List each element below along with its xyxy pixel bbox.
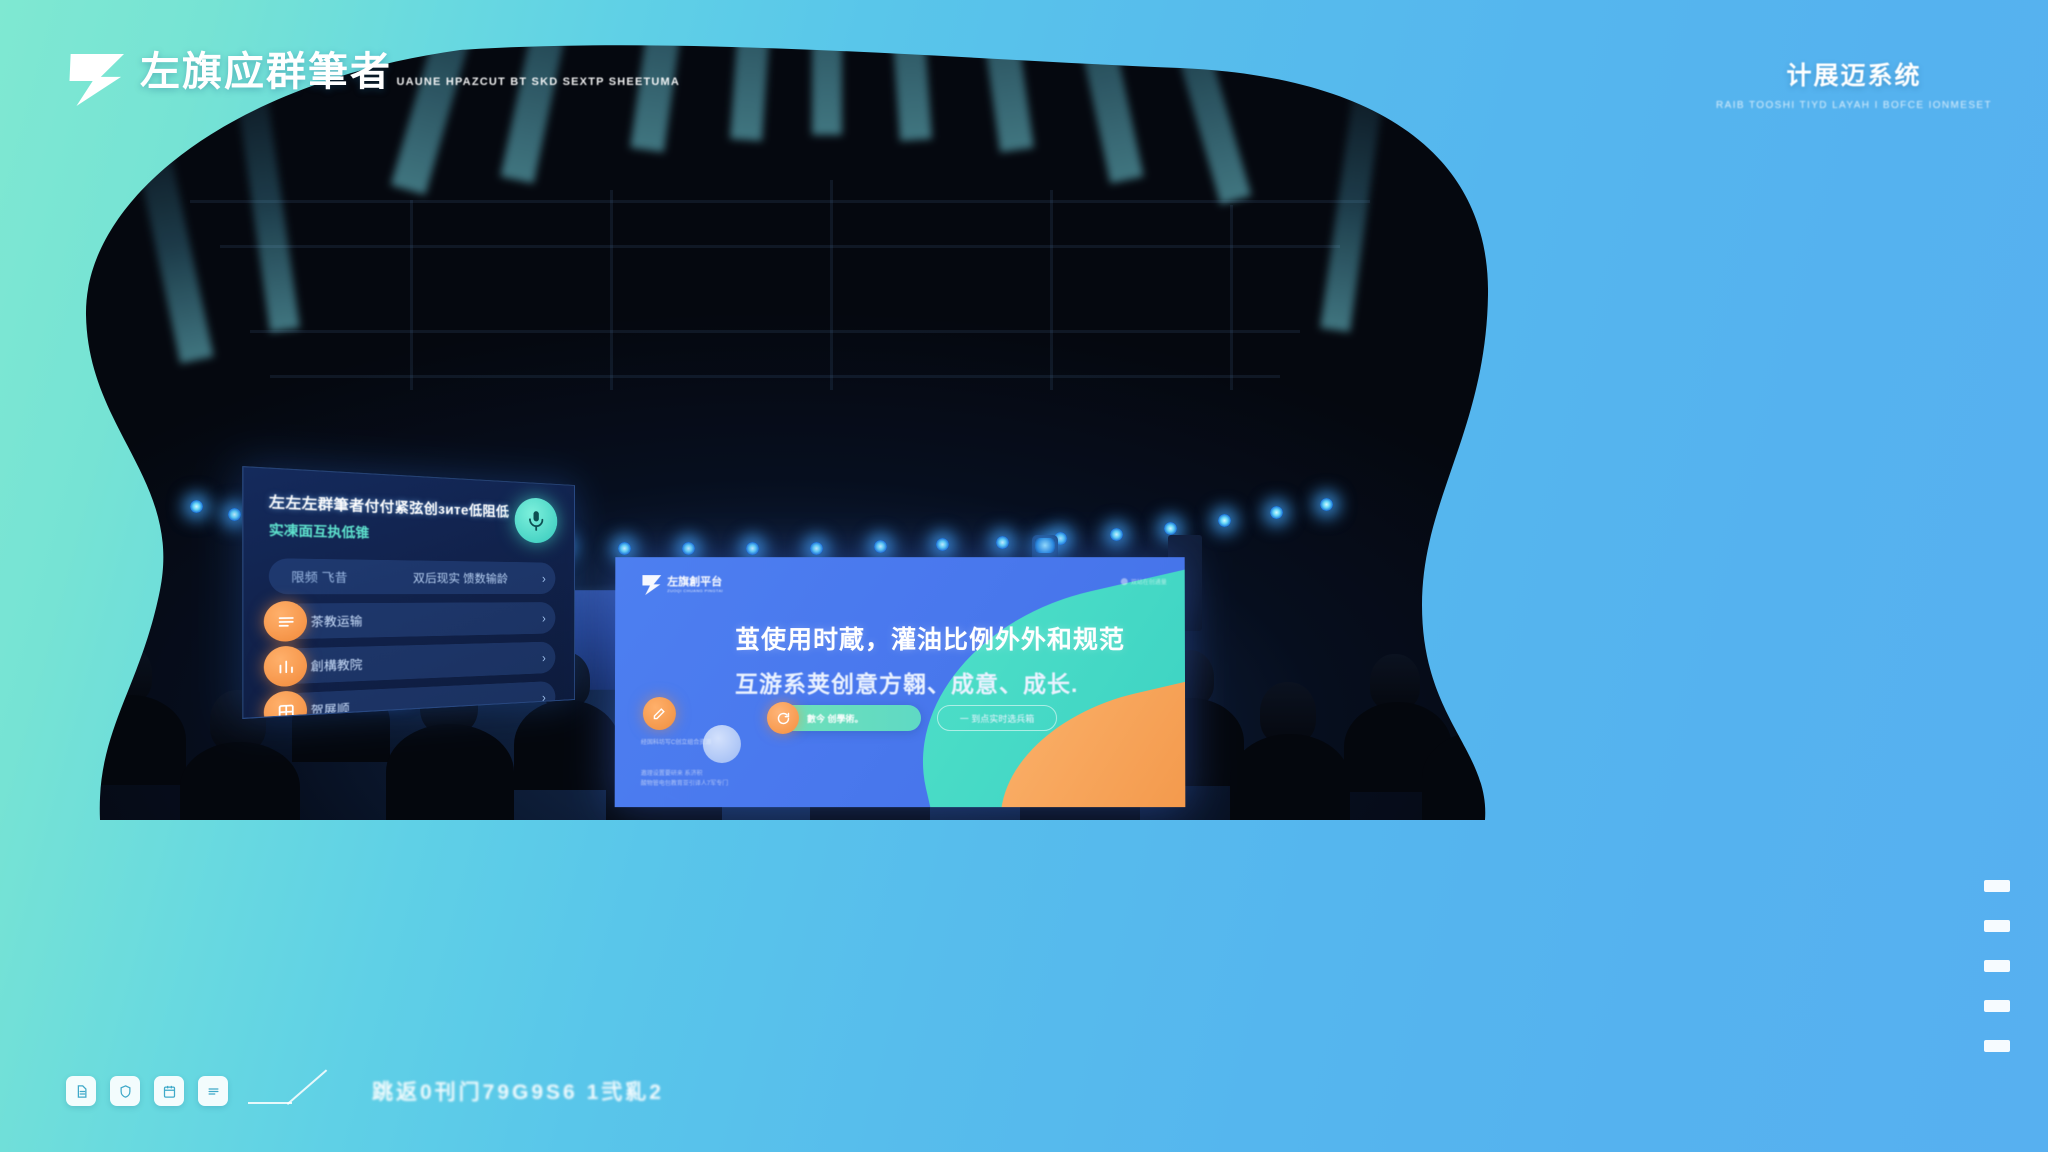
header-right-title: 计展迈系统 <box>1716 56 1992 92</box>
stage-light <box>682 542 695 555</box>
badge-dot-icon <box>1121 578 1128 585</box>
left-panel-header: 左左左群筆者付付紧弦创зите低阻低 实凍面互执低锥 <box>269 490 556 547</box>
edge-mark <box>1984 1000 2010 1012</box>
stage-light <box>810 542 823 555</box>
brand-tagline: UAUNE HPAZCUT BT SKD SEXTP SHEETUMA <box>396 76 680 88</box>
header-logo[interactable]: 左旗应群筆者 UAUNE HPAZCUT BT SKD SEXTP SHEETU… <box>66 50 680 106</box>
secondary-cta-button[interactable]: 一 到点实时选兵箱 <box>937 705 1057 731</box>
slide-actions: 數今 创學術。 一 到点实时选兵箱 <box>773 705 1057 731</box>
slide-headline-line2: 互游系荚创意方翱、成意、成长. <box>735 665 1165 699</box>
edit-icon <box>643 697 676 730</box>
stage-light <box>1110 528 1123 541</box>
stage-light <box>1320 498 1333 511</box>
slide-footnote-line1: 邀理设置要研来 系济积 <box>641 769 728 779</box>
truss-beam <box>220 245 1340 248</box>
brand-slash-mark-icon <box>66 54 124 106</box>
slide-logo-sub: ZUOQI CHUANG PINGTAI <box>667 589 723 593</box>
doc-icon[interactable] <box>66 1076 96 1106</box>
brand-slash-mark-icon <box>641 575 661 595</box>
list-item-secondary: 双后现实 馈数输龄 <box>413 569 508 587</box>
list-item-label: 創構教院 <box>311 655 363 675</box>
header-right: 计展迈系统 RAIB TOOSHI TIYD LAYAH I BOFCE ION… <box>1716 56 1992 111</box>
list-item-label: 茶教运输 <box>311 611 363 630</box>
stage-light <box>746 542 759 555</box>
slide-footnote-line2: 酸物管电包教育亚引译人7军专门 <box>641 779 728 789</box>
slide-corner-tag-label: 双站在创通量 <box>1131 577 1167 586</box>
truss-beam <box>190 200 1370 203</box>
footer-divider-rule <box>248 1074 334 1108</box>
left-panel-title: 左左左群筆者付付紧弦创зите低阻低 <box>269 490 556 523</box>
left-panel-rows: 限频 飞昔 双后现实 馈数输龄 › 茶教运输 › <box>269 558 556 719</box>
edge-mark <box>1984 960 2010 972</box>
stage-photo: 左左左群筆者付付紧弦创зите低阻低 实凍面互执低锥 限频 飞昔 双后现实 馈数… <box>70 30 1500 845</box>
stage-light <box>936 538 949 551</box>
footer-code: 跳返0刊门79G9S6 1弐乿2 <box>372 1076 664 1106</box>
main-led-slide: 左旗創平台 ZUOQI CHUANG PINGTAI 双站在创通量 茧使用时蔵，… <box>615 557 1186 807</box>
list-icon[interactable] <box>198 1076 228 1106</box>
brand-wordmark: 左旗应群筆者 <box>140 50 392 94</box>
header-right-subtitle: RAIB TOOSHI TIYD LAYAH I BOFCE IONMESET <box>1716 100 1992 111</box>
truss-post <box>830 180 833 390</box>
stage-light <box>996 536 1009 549</box>
edge-mark <box>1984 920 2010 932</box>
list-icon <box>264 601 307 642</box>
list-item[interactable]: 限频 飞昔 双后现实 馈数输龄 › <box>269 558 556 594</box>
chevron-right-icon: › <box>542 650 546 664</box>
edge-mark <box>1984 1040 2010 1052</box>
calendar-icon[interactable] <box>154 1076 184 1106</box>
chevron-right-icon: › <box>542 611 546 625</box>
truss-beam <box>270 375 1280 378</box>
left-stage-screen: 左左左群筆者付付紧弦创зите低阻低 实凍面互执低锥 限频 飞昔 双后现实 馈数… <box>242 466 575 719</box>
list-item[interactable]: 茶教运输 › <box>269 602 556 639</box>
audience-member <box>1230 734 1350 826</box>
slide-logo: 左旗創平台 ZUOQI CHUANG PINGTAI <box>641 575 723 595</box>
audience-member <box>514 700 620 790</box>
edge-mark <box>1984 880 2010 892</box>
chevron-right-icon: › <box>542 571 546 585</box>
slide-side-caption: 经国科坊写C创立组合资源 <box>641 739 711 748</box>
stage-light <box>1270 506 1283 519</box>
truss-post <box>610 190 613 390</box>
grid-icon <box>264 690 307 719</box>
truss-post <box>410 200 413 390</box>
audience-member <box>386 724 514 820</box>
slide-headline-line1: 茧使用时蔵，灌油比例外外和规范 <box>735 620 1165 656</box>
list-item[interactable]: 創構教院 › <box>269 642 556 685</box>
stage-light <box>228 508 241 521</box>
edge-marks <box>1984 880 2010 1052</box>
stage-light <box>618 542 631 555</box>
stage-light <box>1218 514 1231 527</box>
avatar <box>703 725 741 763</box>
secondary-cta-label: 一 到点实时选兵箱 <box>960 712 1035 725</box>
left-panel-subtitle: 实凍面互执低锥 <box>269 520 556 547</box>
audience-member <box>180 742 300 832</box>
header-logo-text: 左旗应群筆者 UAUNE HPAZCUT BT SKD SEXTP SHEETU… <box>140 50 680 92</box>
primary-cta-button[interactable]: 數今 创學術。 <box>773 705 921 731</box>
chart-icon <box>264 646 307 688</box>
footer-bar: 跳返0刊门79G9S6 1弐乿2 <box>66 1074 664 1108</box>
stage-light <box>1164 522 1177 535</box>
slide-logo-wordmark: 左旗創平台 ZUOQI CHUANG PINGTAI <box>667 577 723 593</box>
slide-corner-tag: 双站在创通量 <box>1121 577 1167 586</box>
stage-light <box>190 500 203 513</box>
stage-light <box>874 540 887 553</box>
slide-footnote: 邀理设置要研来 系济积 酸物管电包教育亚引译人7军专门 <box>641 769 728 789</box>
refresh-icon <box>767 702 799 734</box>
primary-cta-label: 數今 创學術。 <box>807 712 864 725</box>
list-item-label: 限频 飞昔 <box>291 567 347 586</box>
truss-beam <box>250 330 1300 333</box>
shield-icon[interactable] <box>110 1076 140 1106</box>
truss-post <box>1230 205 1233 390</box>
slide-headline: 茧使用时蔵，灌油比例外外和规范 互游系荚创意方翱、成意、成长. <box>735 620 1165 699</box>
truss-post <box>1050 190 1053 390</box>
